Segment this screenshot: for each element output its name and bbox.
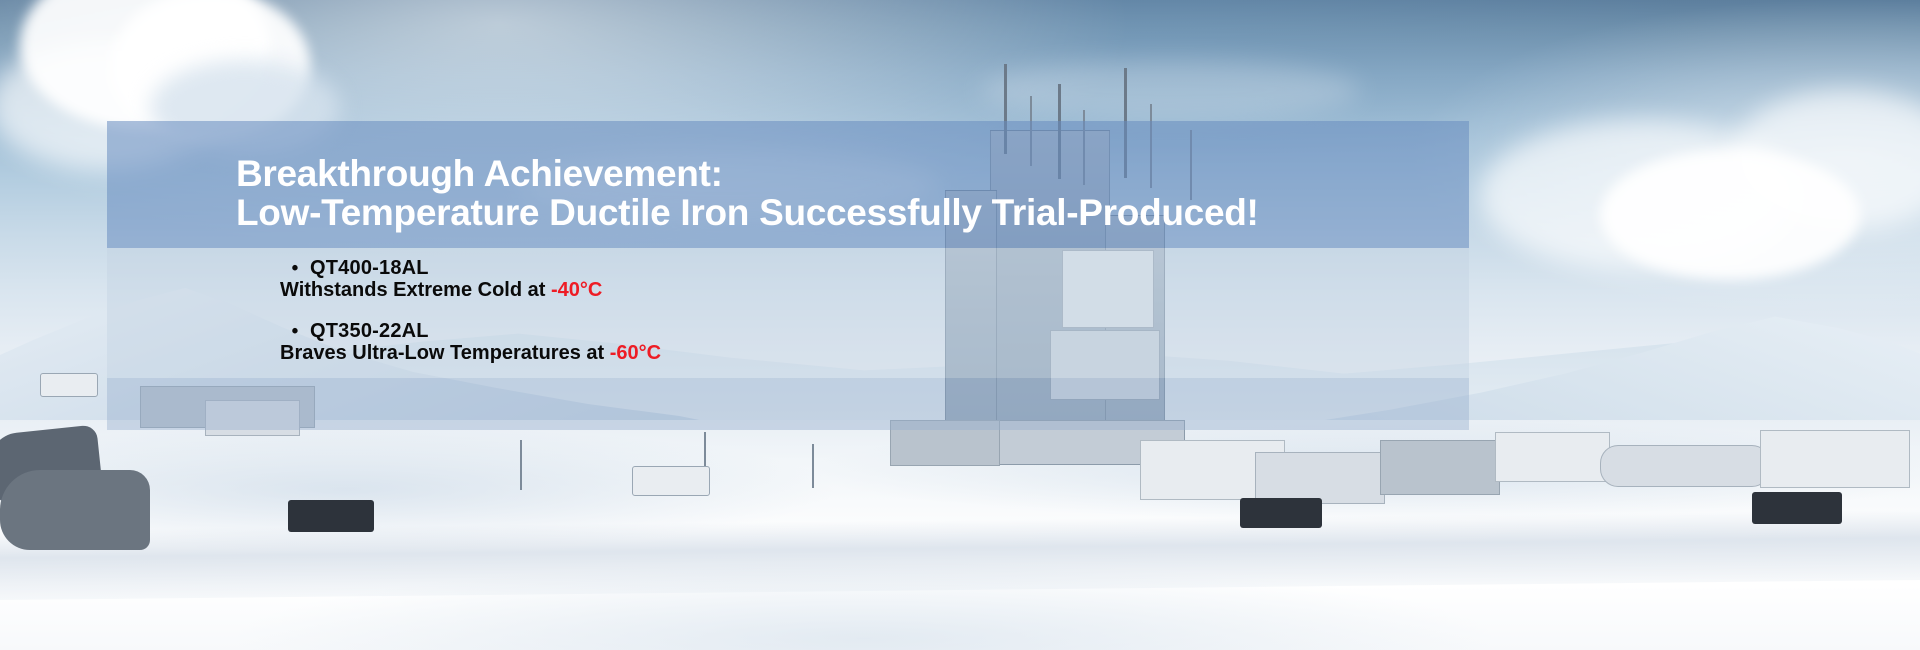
vehicle-truck-white (40, 373, 98, 397)
compound-tank (1600, 445, 1770, 487)
material-grade: QT400-18AL (310, 257, 429, 279)
compound-building-e (1760, 430, 1910, 488)
bullet-row: •QT350-22AL (280, 321, 1180, 342)
compound-building-d (1495, 432, 1610, 482)
bullet-row: •QT400-18AL (280, 258, 1180, 279)
vehicle-car-dark (1240, 498, 1322, 528)
feature-description-text: Withstands Extreme Cold at (280, 279, 551, 301)
feature-description-text: Braves Ultra-Low Temperatures at (280, 342, 610, 364)
compound-building-c (1380, 440, 1500, 495)
temperature-highlight: -60°C (610, 342, 661, 364)
bullet-dot-icon: • (280, 258, 310, 279)
promo-banner: Breakthrough Achievement: Low-Temperatur… (0, 0, 1920, 650)
vehicle-suv-white (632, 466, 710, 496)
footer-panel (107, 378, 1469, 430)
page-title: Breakthrough Achievement: Low-Temperatur… (236, 155, 1496, 232)
temperature-highlight: -40°C (551, 279, 602, 301)
list-item: •QT350-22AL Braves Ultra-Low Temperature… (280, 321, 1180, 364)
utility-pole (812, 444, 814, 488)
rock-foreground (0, 470, 150, 550)
feature-description: Braves Ultra-Low Temperatures at -60°C (280, 343, 1180, 364)
compound-building-b (1255, 452, 1385, 504)
utility-pole (520, 440, 522, 490)
material-grade: QT350-22AL (310, 320, 429, 342)
bullet-dot-icon: • (280, 321, 310, 342)
feature-description: Withstands Extreme Cold at -40°C (280, 280, 1180, 301)
list-item: •QT400-18AL Withstands Extreme Cold at -… (280, 258, 1180, 301)
headline-line-1: Breakthrough Achievement: (236, 153, 723, 194)
headline-line-2: Low-Temperature Ductile Iron Successfull… (236, 194, 1496, 232)
cloud-icon (980, 60, 1360, 120)
feature-list: •QT400-18AL Withstands Extreme Cold at -… (280, 258, 1180, 364)
vehicle-car-dark (1752, 492, 1842, 524)
vehicle-car-dark (288, 500, 374, 532)
